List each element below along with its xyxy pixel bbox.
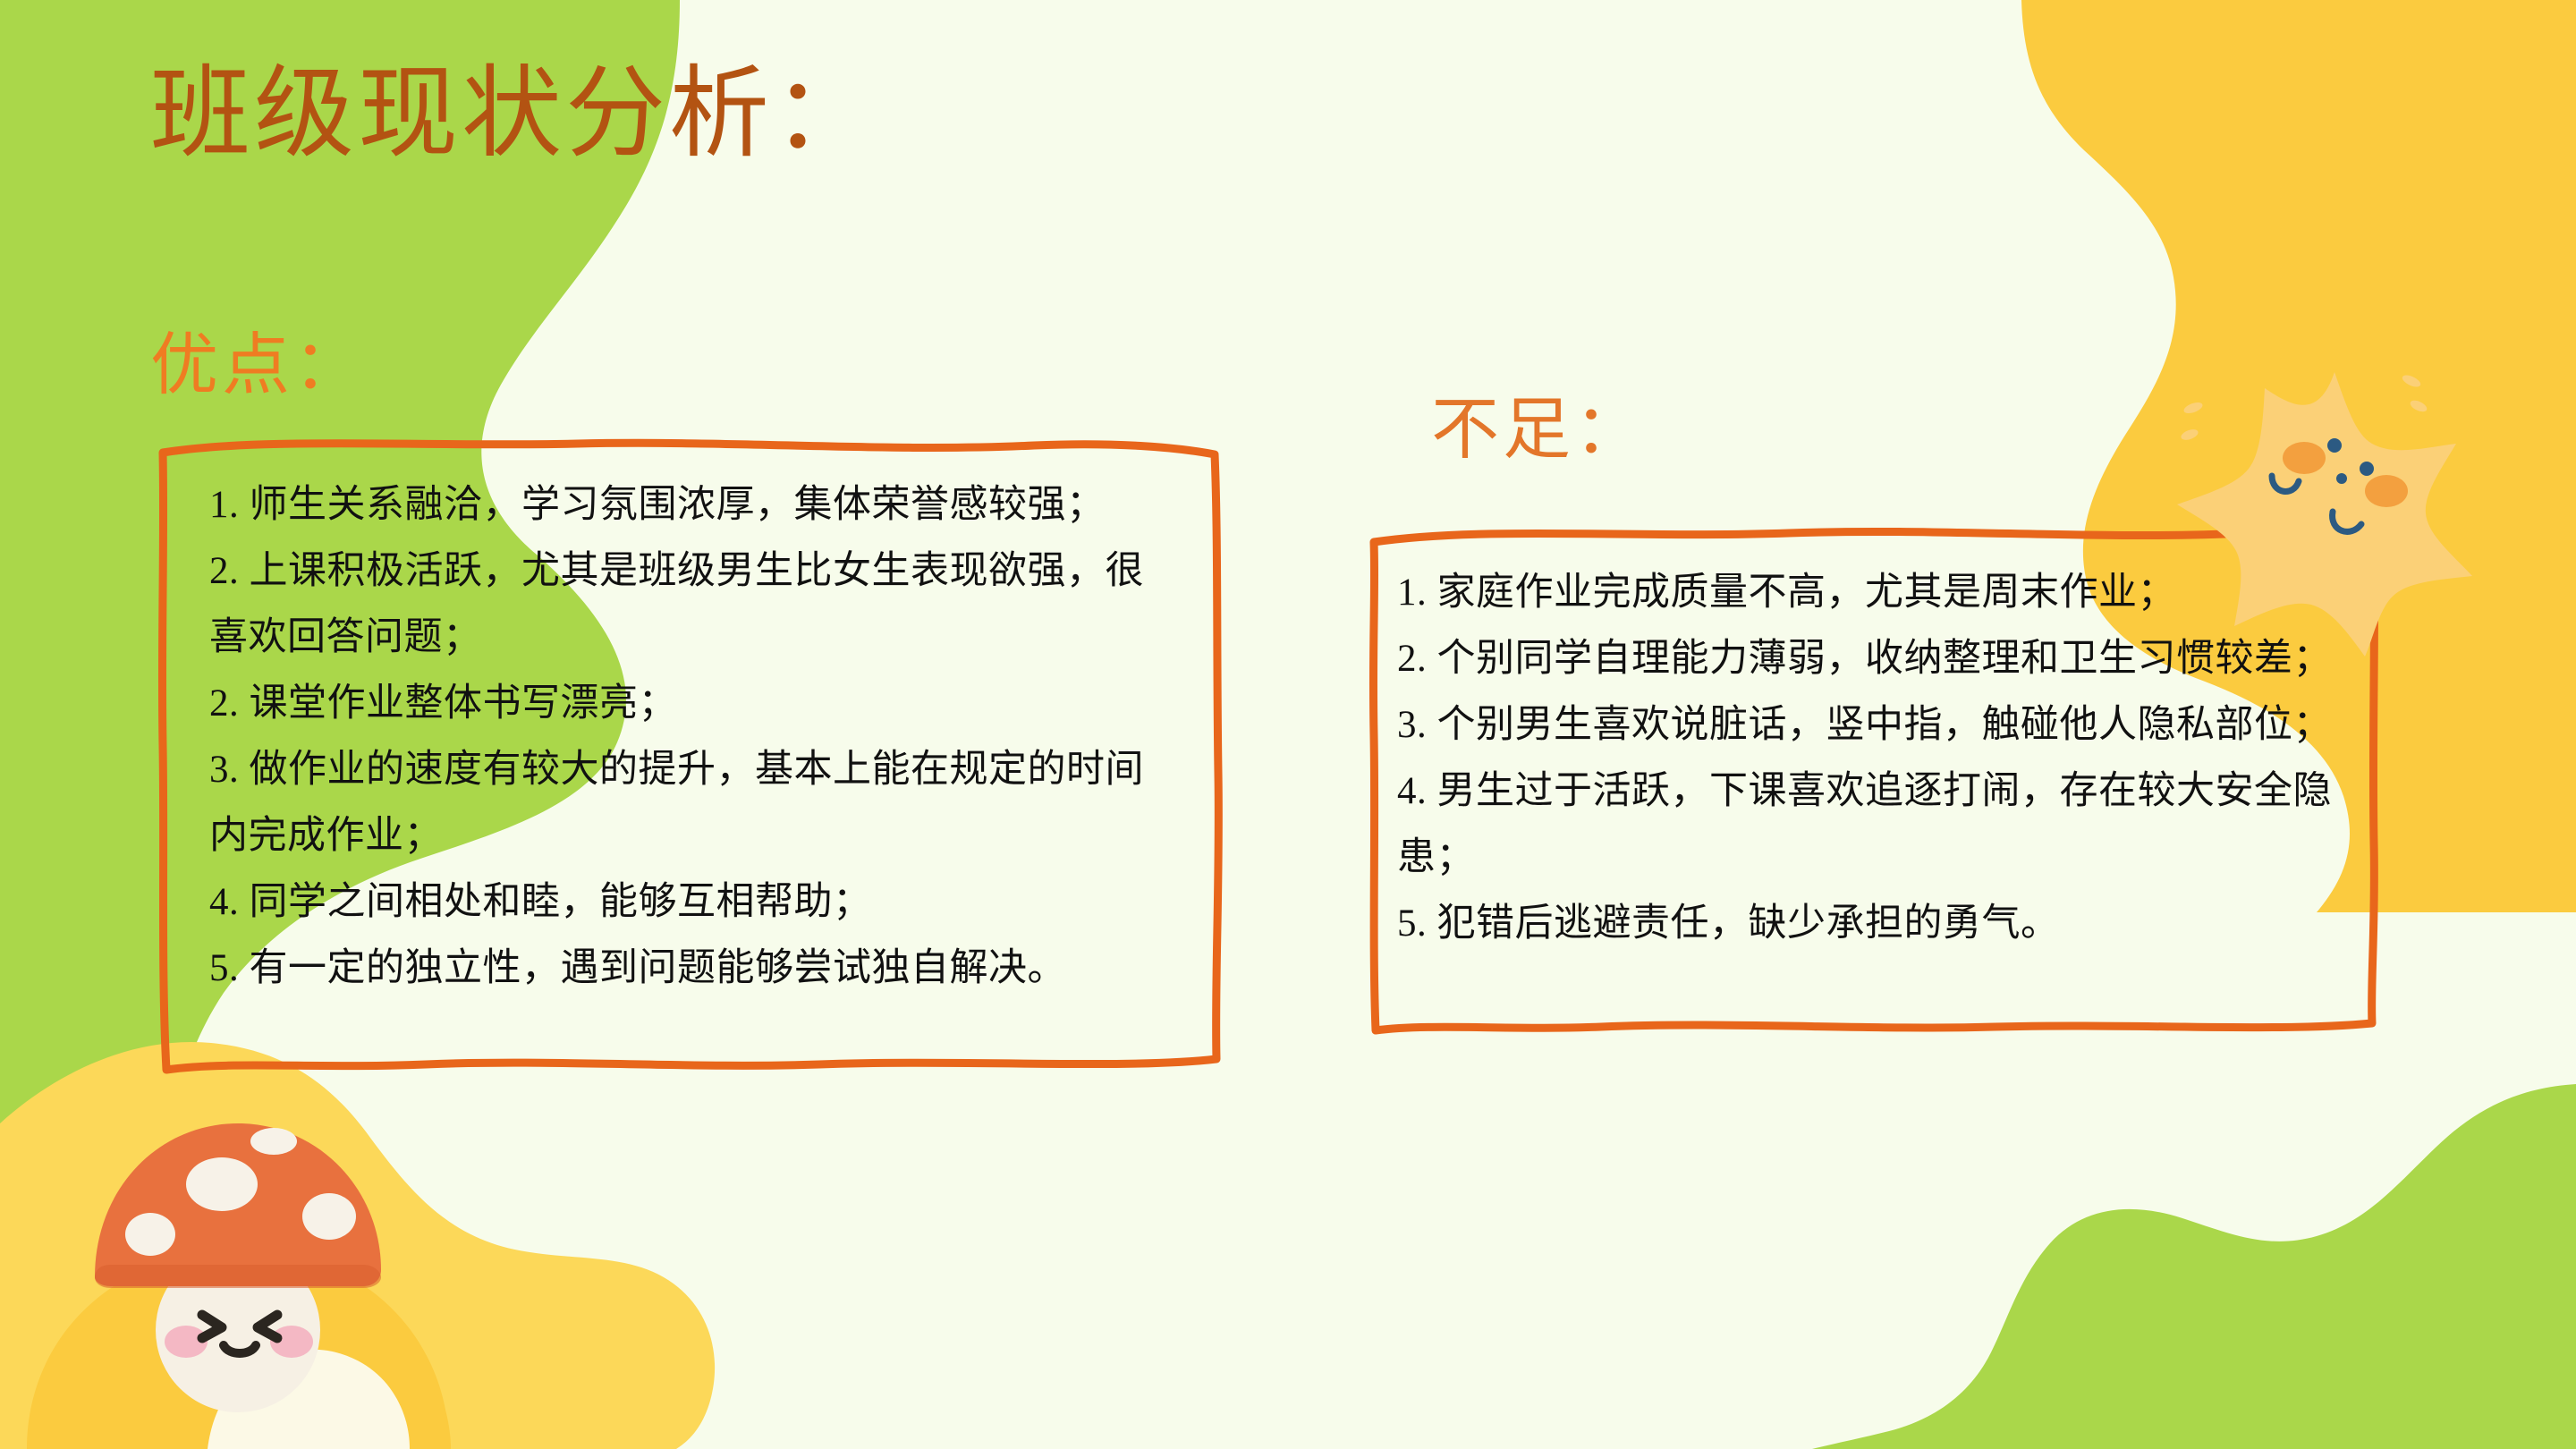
green-blob-bottom-right — [1812, 1084, 2576, 1449]
star-cheek-left — [2283, 442, 2326, 474]
pros-item: 2. 课堂作业整体书写漂亮； — [209, 671, 1175, 737]
mushroom-spot — [250, 1128, 297, 1155]
pros-heading: 优点： — [150, 329, 365, 404]
pros-item: 3. 做作业的速度有较大的提升，基本上能在规定的时间内完成作业； — [209, 737, 1175, 869]
star-freckle — [2360, 462, 2374, 476]
star-sparkle — [2182, 401, 2204, 416]
mushroom-spot — [186, 1157, 258, 1211]
slide-canvas: 班级现状分析： 优点： 1. 师生关系融洽，学习氛围浓厚，集体荣誉感较强； 2.… — [0, 0, 2576, 1449]
star-sparkle — [2401, 373, 2422, 389]
cons-item: 4. 男生过于活跃，下课喜欢追逐打闹，存在较大安全隐患； — [1397, 758, 2363, 891]
pros-item: 2. 上课积极活跃，尤其是班级男生比女生表现欲强，很喜欢回答问题； — [209, 538, 1175, 671]
star-mascot-icon — [2172, 361, 2494, 657]
pros-text-block: 1. 师生关系融洽，学习氛围浓厚，集体荣誉感较强； 2. 上课积极活跃，尤其是班… — [209, 472, 1175, 1002]
star-sparkle — [2409, 398, 2428, 414]
mushroom-mascot-icon — [88, 1102, 383, 1424]
star-freckle — [2336, 473, 2347, 484]
pros-item: 4. 同学之间相处和睦，能够互相帮助； — [209, 869, 1175, 936]
mushroom-cap-shadow — [95, 1265, 381, 1288]
cons-item: 3. 个别男生喜欢说脏话，竖中指，触碰他人隐私部位； — [1397, 692, 2363, 758]
mushroom-spot — [302, 1193, 356, 1240]
cons-heading: 不足： — [1431, 394, 1646, 469]
star-shape — [2177, 372, 2472, 657]
star-cheek-right — [2365, 475, 2408, 507]
pros-item: 1. 师生关系融洽，学习氛围浓厚，集体荣誉感较强； — [209, 472, 1175, 538]
pros-box: 1. 师生关系融洽，学习氛围浓厚，集体荣誉感较强； 2. 上课积极活跃，尤其是班… — [157, 433, 1222, 1095]
star-sparkle — [2180, 428, 2199, 442]
star-freckle — [2327, 438, 2342, 453]
mushroom-spot — [125, 1213, 175, 1256]
cons-item: 5. 犯错后逃避责任，缺少承担的勇气。 — [1397, 891, 2363, 957]
pros-item: 5. 有一定的独立性，遇到问题能够尝试独自解决。 — [209, 936, 1175, 1002]
page-title: 班级现状分析： — [150, 57, 877, 173]
